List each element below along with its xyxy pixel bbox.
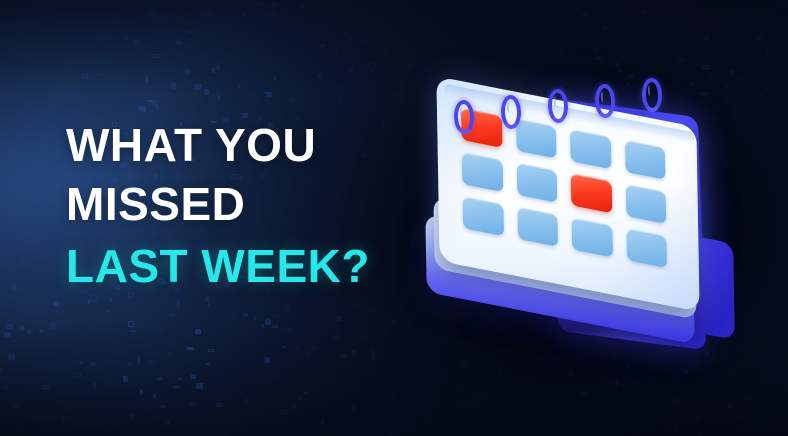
calendar-cell-r2-c1 bbox=[462, 152, 503, 192]
calendar-cell-r1-c4 bbox=[624, 140, 665, 180]
headline-line-2: MISSED bbox=[66, 181, 370, 227]
calendar-ring-2-icon bbox=[500, 94, 521, 129]
headline-block: WHAT YOU MISSED LAST WEEK? bbox=[66, 122, 370, 289]
calendar-spiral-rings bbox=[438, 72, 708, 138]
calendar-ring-5-icon bbox=[641, 78, 662, 113]
calendar-ring-3-icon bbox=[547, 89, 568, 124]
calendar-ring-4-icon bbox=[594, 83, 615, 118]
calendar-cell-r2-c3 bbox=[571, 173, 612, 213]
headline-line-3-accent: LAST WEEK? bbox=[66, 243, 370, 289]
calendar-cell-r2-c4 bbox=[625, 184, 666, 224]
headline-line-1: WHAT YOU bbox=[66, 122, 370, 168]
promo-banner: WHAT YOU MISSED LAST WEEK? bbox=[0, 0, 788, 436]
calendar-ring-1-icon bbox=[453, 100, 474, 135]
calendar-illustration bbox=[404, 72, 774, 362]
calendar-cell-r2-c2 bbox=[516, 163, 557, 203]
